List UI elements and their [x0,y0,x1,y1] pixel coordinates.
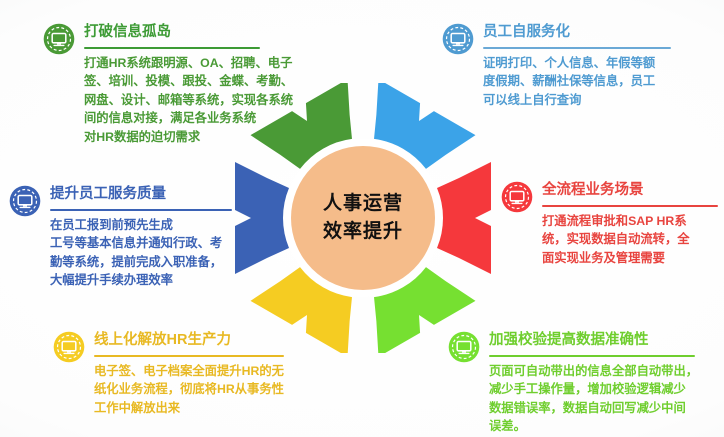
title-underline [50,209,232,211]
body-line: 签、培训、投模、跟投、金蝶、考勤、 [84,72,302,90]
body-line: 电子签、电子档案全面提升HR的无 [94,362,314,380]
infographic-canvas: 人事运营 效率提升 打破信息孤岛 打通HR系统跟明源、OA、招聘、电子 [0,0,724,437]
monitor-badge-icon [8,184,42,218]
body-line: 页面可自动带出的信息全部自动带出， [489,362,724,380]
callout-body: 在员工报到前预先生成 工号等基本信息并通知行政、考 勤等系统，提前完成入职准备，… [50,216,276,290]
body-line: 对HR数据的迫切需求 [84,128,302,146]
callout-body: 打通流程审批和SAP HR系 统，实现数据自动流转，全 面实现业务及管理需要 [542,212,724,267]
body-line: 纸化业务流程，彻底将HR从事务性 [94,380,314,398]
body-line: 证明打印、个人信息、年假等额 [483,54,691,72]
callout-employee-self-service: 员工自服务化 证明打印、个人信息、年假等额 度假期、薪酬社保等信息，员工 可以线… [441,22,691,109]
callout-title: 员工自服务化 [483,25,671,41]
center-label: 人事运营 效率提升 [291,146,435,290]
title-underline [94,355,284,357]
callout-title: 提升员工服务质量 [50,187,232,203]
monitor-badge-icon [42,22,76,56]
center-line-1: 人事运营 [323,190,403,218]
body-line: 在员工报到前预先生成 [50,216,276,234]
title-underline [489,355,695,357]
callout-body: 打通HR系统跟明源、OA、招聘、电子 签、培训、投模、跟投、金蝶、考勤、 网盘、… [84,54,302,146]
body-line: 误差。 [489,417,724,435]
body-line: 间的信息对接，满足各业务系统 [84,109,302,127]
body-line: 勤等系统，提前完成入职准备， [50,253,276,271]
body-line: 统，实现数据自动流转，全 [542,230,724,248]
callout-body: 证明打印、个人信息、年假等额 度假期、薪酬社保等信息，员工 可以线上自行查询 [483,54,691,109]
body-line: 面实现业务及管理需要 [542,249,724,267]
callout-full-process-business-scenario: 全流程业务场景 打通流程审批和SAP HR系 统，实现数据自动流转，全 面实现业… [500,180,724,267]
monitor-badge-icon [500,180,534,214]
segment-right [437,162,491,274]
body-line: 打通HR系统跟明源、OA、招聘、电子 [84,54,302,72]
callout-break-information-silos: 打破信息孤岛 打通HR系统跟明源、OA、招聘、电子 签、培训、投模、跟投、金蝶、… [42,22,302,146]
body-line: 度假期、薪酬社保等信息，员工 [483,72,691,90]
callout-title: 全流程业务场景 [542,183,718,199]
callout-online-free-hr-productivity: 线上化解放HR生产力 电子签、电子档案全面提升HR的无 纸化业务流程，彻底将HR… [52,330,314,417]
title-underline [542,205,718,207]
body-line: 减少手工操作量，增加校验逻辑减少 [489,380,724,398]
body-line: 数据错误率，数据自动回写减少中间 [489,399,724,417]
title-underline [84,47,260,49]
callout-title: 打破信息孤岛 [84,25,260,41]
body-line: 网盘、设计、邮箱等系统，实现各系统 [84,91,302,109]
center-line-2: 效率提升 [323,218,403,246]
body-line: 工作中解放出来 [94,399,314,417]
callout-title: 加强校验提高数据准确性 [489,333,695,349]
monitor-badge-icon [52,330,86,364]
body-line: 打通流程审批和SAP HR系 [542,212,724,230]
monitor-badge-icon [447,330,481,364]
callout-strengthen-validation-data-accuracy: 加强校验提高数据准确性 页面可自动带出的信息全部自动带出， 减少手工操作量，增加… [447,330,724,436]
body-line: 大幅提升手续办理效率 [50,271,276,289]
callout-body: 电子签、电子档案全面提升HR的无 纸化业务流程，彻底将HR从事务性 工作中解放出… [94,362,314,417]
callout-improve-employee-service-quality: 提升员工服务质量 在员工报到前预先生成 工号等基本信息并通知行政、考 勤等系统，… [8,184,276,290]
callout-title: 线上化解放HR生产力 [94,333,284,349]
callout-body: 页面可自动带出的信息全部自动带出， 减少手工操作量，增加校验逻辑减少 数据错误率… [489,362,724,436]
title-underline [483,47,671,49]
body-line: 可以线上自行查询 [483,91,691,109]
body-line: 工号等基本信息并通知行政、考 [50,234,276,252]
monitor-badge-icon [441,22,475,56]
